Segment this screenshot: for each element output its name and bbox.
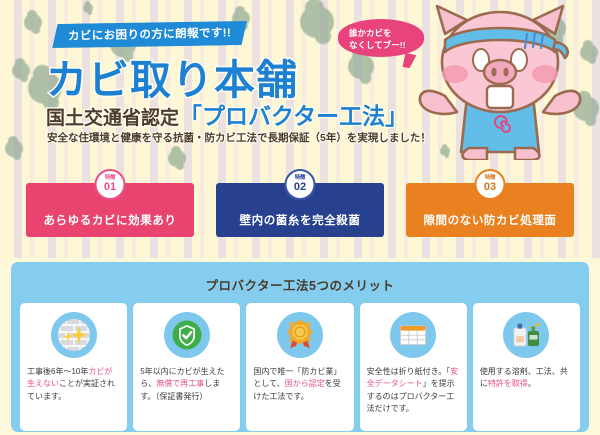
merit-card-3[interactable]: 国内で唯一「防カビ業」として、国から認定を受けた工法です。 xyxy=(246,303,353,431)
merit-card-4-text: 安全性は折り紙付き。「安全データシート」を提示するのはプロバクター工法だけです。 xyxy=(367,366,460,416)
merits-title: プロバクター工法5つのメリット xyxy=(20,270,580,303)
badge-number: 01 xyxy=(104,182,116,193)
mascot-speech-bubble: 誰かカビを なくしてブー!! xyxy=(338,19,424,57)
spreadsheet-icon xyxy=(390,312,436,358)
feature-boxes: 特徴 01 あらゆるカビに効果あり 特徴 02 壁内の菌糸を完全殺菌 特徴 03… xyxy=(0,170,600,240)
merit-cards: 工事後6年～10年カビが生えないことが実証されています。 5年以内にカビが生えた… xyxy=(20,303,580,431)
feature-badge-02: 特徴 02 xyxy=(285,169,316,200)
feature-badge-01: 特徴 01 xyxy=(95,169,126,200)
feature-box-02[interactable]: 特徴 02 壁内の菌糸を完全殺菌 xyxy=(216,183,384,237)
announcement-ribbon: カビにお困りの方に朗報です!! xyxy=(52,20,248,49)
speech-line-1: 誰かカビを xyxy=(349,27,424,39)
feature-label-01: あらゆるカビに効果あり xyxy=(43,212,176,228)
badge-number: 02 xyxy=(294,182,306,193)
merits-panel: プロバクター工法5つのメリット xyxy=(11,262,589,432)
brick-wall-sparkle-icon xyxy=(51,312,97,358)
green-shield-check-icon xyxy=(164,312,210,358)
merit-card-2-text: 5年以内にカビが生えたら、無償で再工事します。（保証書発行） xyxy=(140,366,233,403)
merit-card-3-text: 国内で唯一「防カビ業」として、国から認定を受けた工法です。 xyxy=(253,366,346,403)
feature-label-02: 壁内の菌糸を完全殺菌 xyxy=(240,212,361,228)
merit-card-4[interactable]: 安全性は折り紙付き。「安全データシート」を提示するのはプロバクター工法だけです。 xyxy=(360,303,467,431)
subtitle-certification: 国土交通省認定 xyxy=(46,108,179,129)
mold-spot-decoration xyxy=(24,14,42,31)
badge-number: 03 xyxy=(484,182,496,193)
lead-text: 安全な住環境と健康を守る抗菌・防カビ工法で長期保証（5年）を実現しました！ xyxy=(47,130,431,145)
merit-card-2[interactable]: 5年以内にカビが生えたら、無償で再工事します。（保証書発行） xyxy=(133,303,240,431)
hero-section: カビにお困りの方に朗報です!! カビ取り本舗 国土交通省認定「プロバクター工法」… xyxy=(0,0,600,258)
mold-spot-decoration xyxy=(300,6,334,38)
merit-card-1[interactable]: 工事後6年～10年カビが生えないことが実証されています。 xyxy=(20,303,127,431)
pig-mascot xyxy=(415,0,590,160)
merit-card-5-text: 使用する溶剤、工法、共に特許を取得。 xyxy=(480,366,573,391)
feature-label-03: 隙間のない防カビ処理面 xyxy=(423,212,556,228)
page-root: カビにお困りの方に朗報です!! カビ取り本舗 国土交通省認定「プロバクター工法」… xyxy=(0,0,600,435)
cleaning-bottles-icon xyxy=(503,312,549,358)
mold-spot-decoration xyxy=(5,140,23,157)
mold-spot-decoration xyxy=(12,62,30,79)
mold-spot-decoration xyxy=(168,150,186,167)
feature-badge-03: 特徴 03 xyxy=(475,169,506,200)
feature-box-01[interactable]: 特徴 01 あらゆるカビに効果あり xyxy=(26,183,194,237)
speech-line-2: なくしてブー!! xyxy=(349,39,424,51)
mold-spot-decoration xyxy=(348,54,374,79)
feature-box-03[interactable]: 特徴 03 隙間のない防カビ処理面 xyxy=(406,183,574,237)
merit-card-1-text: 工事後6年～10年カビが生えないことが実証されています。 xyxy=(27,366,120,403)
merit-card-5[interactable]: 使用する溶剤、工法、共に特許を取得。 xyxy=(473,303,580,431)
mold-spot-decoration xyxy=(83,3,93,13)
subtitle-method-name: 「プロバクター工法」 xyxy=(179,103,408,129)
gold-medal-ribbon-icon xyxy=(277,312,323,358)
subtitle: 国土交通省認定「プロバクター工法」 xyxy=(46,97,408,131)
